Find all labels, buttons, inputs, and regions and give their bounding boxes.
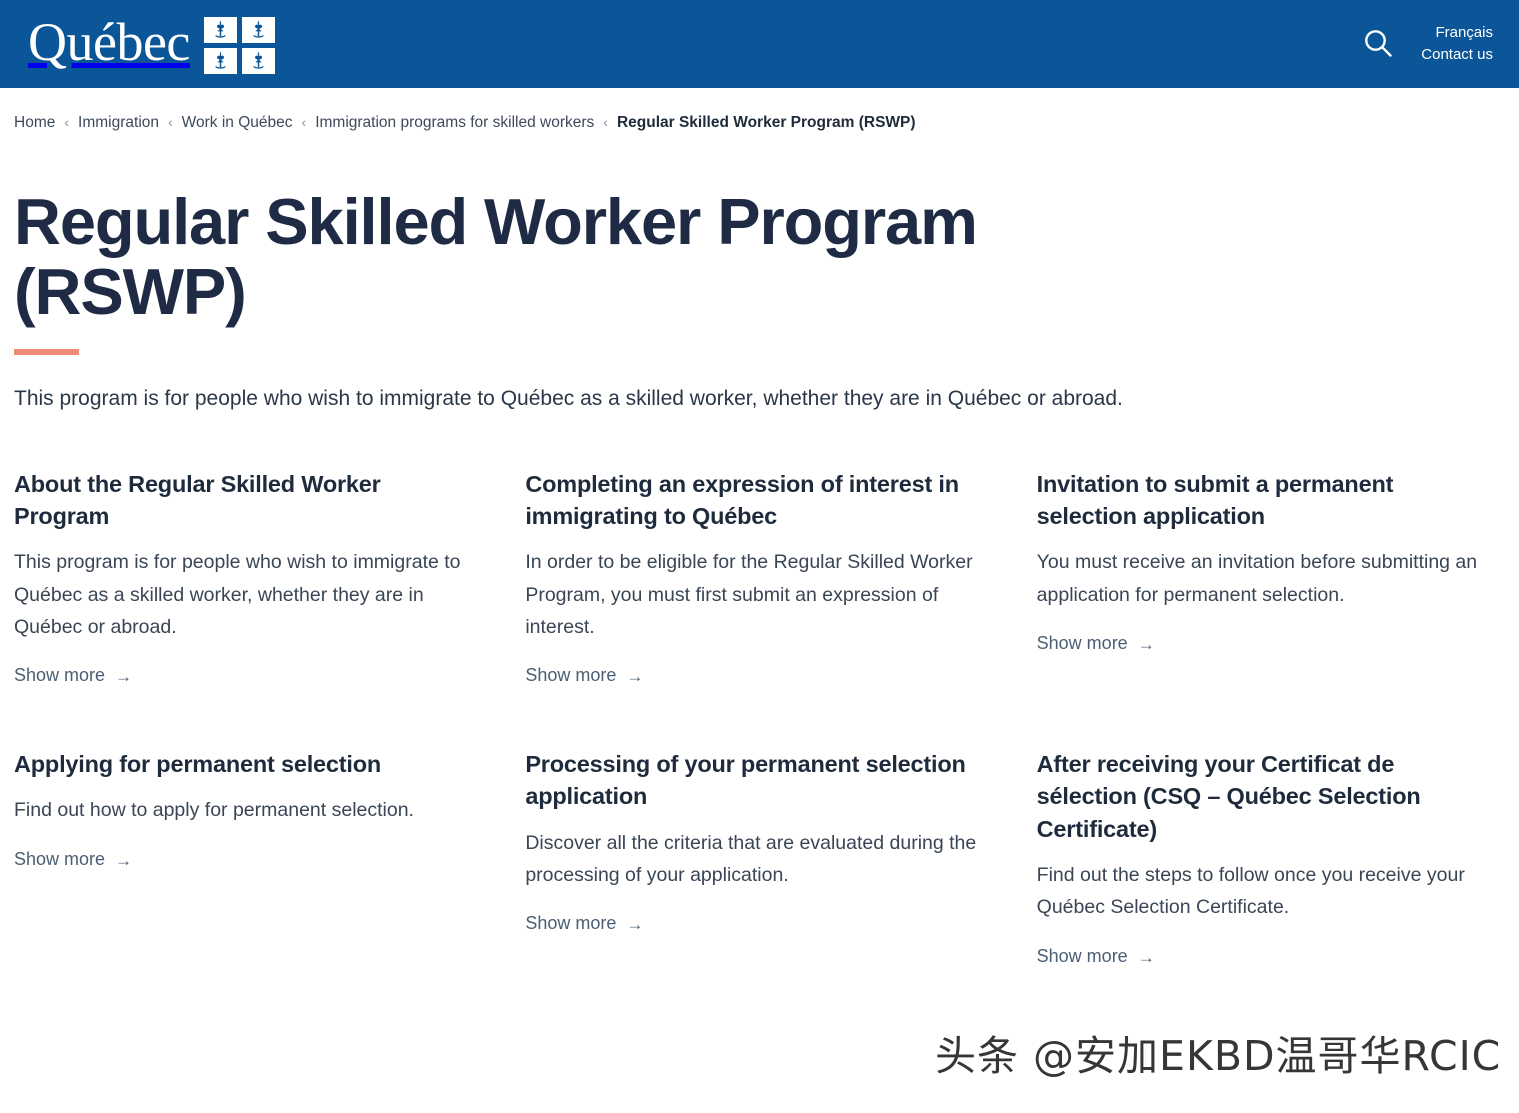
header-utilities: Français Contact us [1357, 22, 1493, 67]
main-content: Regular Skilled Worker Program (RSWP) Th… [0, 187, 1519, 967]
arrow-right-icon: → [626, 668, 643, 685]
title-accent-rule [14, 349, 79, 355]
card-title: Completing an expression of interest in … [525, 468, 982, 533]
card-title: About the Regular Skilled Worker Program [14, 468, 471, 533]
breadcrumb-item-immigration[interactable]: Immigration [78, 114, 159, 132]
card-title: Invitation to submit a permanent selecti… [1037, 468, 1494, 533]
site-header: Québec [0, 0, 1519, 88]
show-more-link[interactable]: Show more → [525, 665, 643, 686]
arrow-right-icon: → [626, 916, 643, 933]
page-lead-paragraph: This program is for people who wish to i… [14, 382, 1129, 415]
card-description: Find out how to apply for permanent sele… [14, 794, 471, 826]
show-more-label: Show more [525, 913, 616, 934]
card-description: Discover all the criteria that are evalu… [525, 827, 982, 891]
card-description: This program is for people who wish to i… [14, 546, 471, 643]
search-icon [1361, 26, 1395, 63]
quebec-flag-grid [204, 17, 275, 74]
breadcrumb-separator-icon: ‹ [64, 114, 69, 130]
quebec-logo-link[interactable]: Québec [28, 16, 275, 73]
breadcrumb-separator-icon: ‹ [168, 114, 173, 130]
show-more-link[interactable]: Show more → [14, 849, 132, 870]
show-more-link[interactable]: Show more → [525, 913, 643, 934]
card-invitation-to-submit: Invitation to submit a permanent selecti… [1037, 468, 1494, 686]
show-more-label: Show more [14, 665, 105, 686]
breadcrumb-item-work-in-quebec[interactable]: Work in Québec [182, 114, 293, 132]
quebec-wordmark: Québec [28, 15, 190, 69]
contact-us-link[interactable]: Contact us [1421, 47, 1493, 64]
card-applying-permanent-selection: Applying for permanent selection Find ou… [14, 748, 471, 967]
fleur-de-lis-icon [204, 48, 237, 74]
arrow-right-icon: → [1138, 636, 1155, 653]
arrow-right-icon: → [1138, 949, 1155, 966]
show-more-label: Show more [1037, 946, 1128, 967]
breadcrumb-separator-icon: ‹ [603, 114, 608, 130]
show-more-link[interactable]: Show more → [1037, 946, 1155, 967]
card-title: Applying for permanent selection [14, 748, 471, 780]
breadcrumb-item-current: Regular Skilled Worker Program (RSWP) [617, 114, 916, 132]
header-links: Français Contact us [1421, 25, 1493, 64]
breadcrumb-separator-icon: ‹ [302, 114, 307, 130]
card-about-program: About the Regular Skilled Worker Program… [14, 468, 471, 686]
language-toggle-francais[interactable]: Français [1435, 25, 1493, 42]
show-more-link[interactable]: Show more → [1037, 633, 1155, 654]
card-processing-application: Processing of your permanent selection a… [525, 748, 982, 967]
fleur-de-lis-icon [242, 48, 275, 74]
card-description: Find out the steps to follow once you re… [1037, 859, 1494, 923]
fleur-de-lis-icon [242, 17, 275, 43]
show-more-link[interactable]: Show more → [14, 665, 132, 686]
watermark-overlay: 头条 @安加EKBD温哥华RCIC [935, 1036, 1501, 1077]
search-button[interactable] [1357, 22, 1399, 67]
card-description: You must receive an invitation before su… [1037, 546, 1494, 610]
breadcrumb-item-immigration-programs[interactable]: Immigration programs for skilled workers [315, 114, 594, 132]
card-title: After receiving your Certificat de sélec… [1037, 748, 1494, 845]
card-after-receiving-csq: After receiving your Certificat de sélec… [1037, 748, 1494, 967]
card-description: In order to be eligible for the Regular … [525, 546, 982, 643]
page-title: Regular Skilled Worker Program (RSWP) [14, 187, 1004, 327]
card-title: Processing of your permanent selection a… [525, 748, 982, 813]
arrow-right-icon: → [115, 852, 132, 869]
arrow-right-icon: → [115, 668, 132, 685]
breadcrumb: Home ‹ Immigration ‹ Work in Québec ‹ Im… [0, 88, 1519, 132]
show-more-label: Show more [14, 849, 105, 870]
card-expression-of-interest: Completing an expression of interest in … [525, 468, 982, 686]
fleur-de-lis-icon [204, 17, 237, 43]
breadcrumb-item-home[interactable]: Home [14, 114, 55, 132]
show-more-label: Show more [1037, 633, 1128, 654]
show-more-label: Show more [525, 665, 616, 686]
program-card-grid: About the Regular Skilled Worker Program… [14, 468, 1494, 967]
